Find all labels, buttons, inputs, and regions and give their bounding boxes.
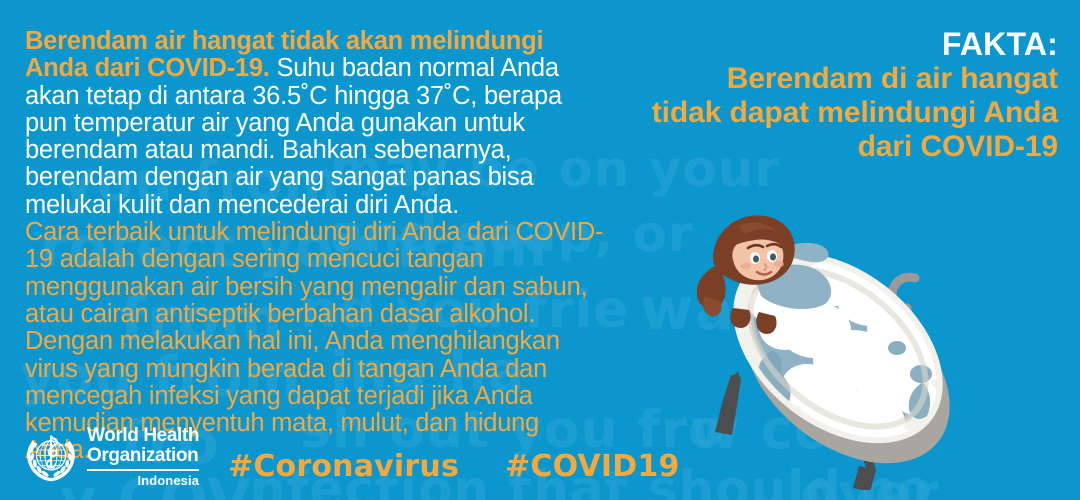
hashtag-coronavirus[interactable]: #Coronavirus — [228, 449, 459, 484]
headline-block: FAKTA: Berendam di air hangat tidak dapa… — [588, 26, 1058, 164]
who-name-line-1: World Health — [87, 426, 199, 446]
headline-line-2: tidak dapat melindungi Anda — [588, 96, 1058, 130]
who-logo: World Health Organization Indonesia — [24, 426, 199, 488]
who-country-label: Indonesia — [87, 474, 199, 488]
headline-line-3: dari COVID-19 — [588, 130, 1058, 164]
who-emblem-icon — [24, 430, 78, 484]
body-copy-block: Berendam air hangat tidak akan melindung… — [25, 28, 607, 465]
who-divider — [87, 469, 199, 471]
hashtag-row: #Coronavirus #COVID19 — [228, 449, 680, 484]
headline-eyebrow: FAKTA: — [588, 26, 1058, 62]
bathtub-with-girl-illustration — [675, 200, 1005, 490]
poster-canvas: you frommay be on yourrotect you fromand… — [0, 0, 1080, 500]
who-name-line-2: Organization — [87, 446, 199, 466]
body-paragraph-1: Berendam air hangat tidak akan melindung… — [25, 28, 607, 219]
headline-line-1: Berendam di air hangat — [588, 62, 1058, 96]
hashtag-covid19[interactable]: #COVID19 — [505, 449, 679, 484]
who-logo-text: World Health Organization Indonesia — [87, 426, 199, 488]
